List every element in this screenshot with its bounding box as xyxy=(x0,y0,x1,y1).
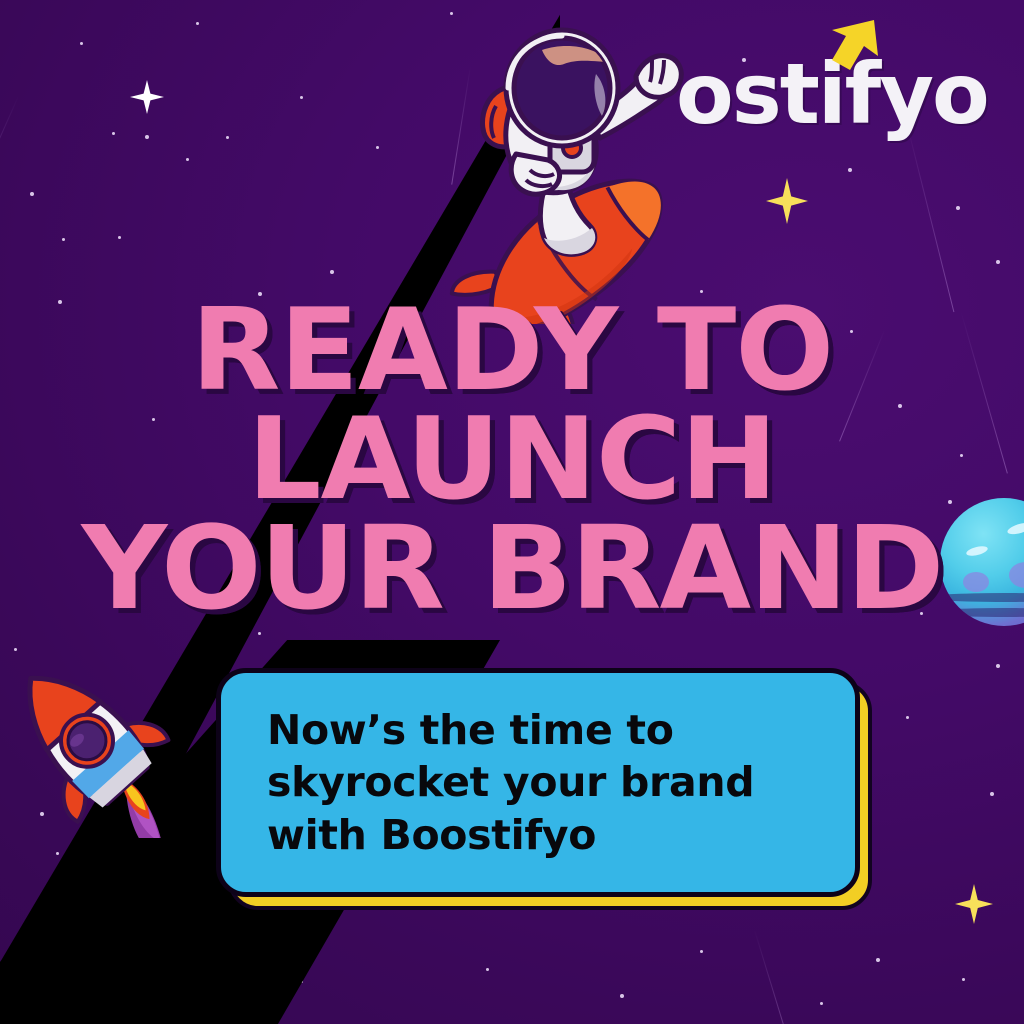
promo-poster: ostifyo READY TO LAUNCH YOUR BRAND Now’s… xyxy=(0,0,1024,1024)
star-dot xyxy=(30,192,34,196)
shooting-star-streak xyxy=(754,930,793,1024)
callout-panel: Now’s the time to skyrocket your brand w… xyxy=(216,668,860,897)
star-dot xyxy=(848,168,852,172)
star-dot xyxy=(486,968,489,971)
star-dot xyxy=(700,950,703,953)
star-dot xyxy=(112,132,115,135)
sparkle-white-icon xyxy=(130,80,164,114)
callout-line-1: Now’s the time to xyxy=(267,704,754,756)
small-rocket-illustration xyxy=(4,648,174,838)
star-dot xyxy=(620,994,624,998)
star-dot xyxy=(196,22,199,25)
star-dot xyxy=(996,664,1000,668)
star-dot xyxy=(956,206,960,210)
star-dot xyxy=(820,1002,823,1005)
star-dot xyxy=(376,146,379,149)
star-dot xyxy=(876,958,880,962)
sparkle-yellow-icon xyxy=(955,884,993,924)
star-dot xyxy=(906,716,909,719)
star-dot xyxy=(80,42,83,45)
star-dot xyxy=(118,236,121,239)
star-dot xyxy=(62,238,65,241)
headline-line-3: YOUR BRAND xyxy=(0,514,1024,625)
star-dot xyxy=(300,96,303,99)
shooting-star-streak xyxy=(905,118,954,312)
brand-logo[interactable]: ostifyo xyxy=(676,52,988,136)
headline-line-2: LAUNCH xyxy=(0,405,1024,514)
star-dot xyxy=(990,792,994,796)
arrow-up-right-icon xyxy=(820,16,882,84)
headline-line-1: READY TO xyxy=(0,296,1024,405)
sparkle-yellow-icon xyxy=(766,178,808,224)
star-dot xyxy=(996,260,1000,264)
star-dot xyxy=(962,978,965,981)
shooting-star-streak xyxy=(0,96,19,233)
page-title: READY TO LAUNCH YOUR BRAND xyxy=(0,296,1024,625)
star-dot xyxy=(56,852,59,855)
star-dot xyxy=(226,136,229,139)
callout-text: Now’s the time to skyrocket your brand w… xyxy=(221,704,754,860)
star-dot xyxy=(330,270,334,274)
star-dot xyxy=(186,158,189,161)
callout-box: Now’s the time to skyrocket your brand w… xyxy=(216,668,872,910)
star-dot xyxy=(145,135,149,139)
astronaut-riding-rocket-illustration xyxy=(438,14,708,324)
callout-line-3: with Boostifyo xyxy=(267,809,754,861)
callout-line-2: skyrocket your brand xyxy=(267,756,754,808)
